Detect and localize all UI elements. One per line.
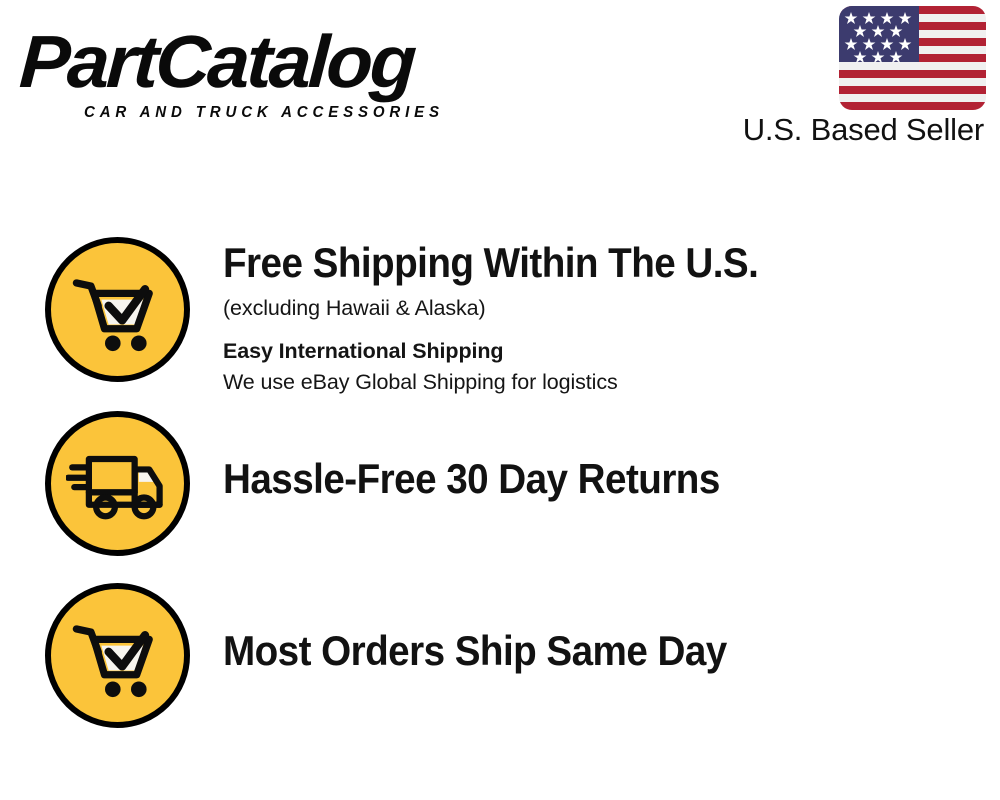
feature-subtext-international-title: Easy International Shipping bbox=[223, 336, 1000, 367]
feature-subtext-international-detail: We use eBay Global Shipping for logistic… bbox=[223, 367, 1000, 398]
feature-heading: Free Shipping Within The U.S. bbox=[223, 239, 938, 287]
feature-text: Free Shipping Within The U.S. (excluding… bbox=[190, 237, 1000, 398]
shopping-cart-check-icon-badge bbox=[45, 237, 190, 382]
feature-heading: Most Orders Ship Same Day bbox=[223, 627, 938, 675]
delivery-truck-icon bbox=[66, 432, 170, 536]
brand-wordmark: PartCatalog bbox=[17, 20, 415, 104]
delivery-truck-icon-badge bbox=[45, 411, 190, 556]
shipping-info-banner: PartCatalog CAR AND TRUCK ACCESSORIES bbox=[0, 0, 1000, 800]
feature-row: Hassle-Free 30 Day Returns bbox=[0, 411, 1000, 556]
brand-tagline: CAR AND TRUCK ACCESSORIES bbox=[84, 104, 444, 122]
brand-logo[interactable]: PartCatalog CAR AND TRUCK ACCESSORIES bbox=[22, 20, 502, 115]
feature-subtext-exclusions: (excluding Hawaii & Alaska) bbox=[223, 293, 1000, 324]
feature-row: Most Orders Ship Same Day bbox=[0, 583, 1000, 728]
shopping-cart-check-icon bbox=[66, 604, 170, 708]
feature-text: Hassle-Free 30 Day Returns bbox=[190, 411, 1000, 503]
feature-row: Free Shipping Within The U.S. (excluding… bbox=[0, 237, 1000, 398]
shopping-cart-check-icon bbox=[66, 258, 170, 362]
feature-text: Most Orders Ship Same Day bbox=[190, 583, 1000, 675]
us-based-seller-label: U.S. Based Seller bbox=[720, 112, 986, 148]
shopping-cart-check-icon-badge bbox=[45, 583, 190, 728]
us-flag-icon bbox=[839, 6, 986, 110]
feature-heading: Hassle-Free 30 Day Returns bbox=[223, 455, 938, 503]
us-based-seller-block: U.S. Based Seller bbox=[720, 6, 986, 148]
